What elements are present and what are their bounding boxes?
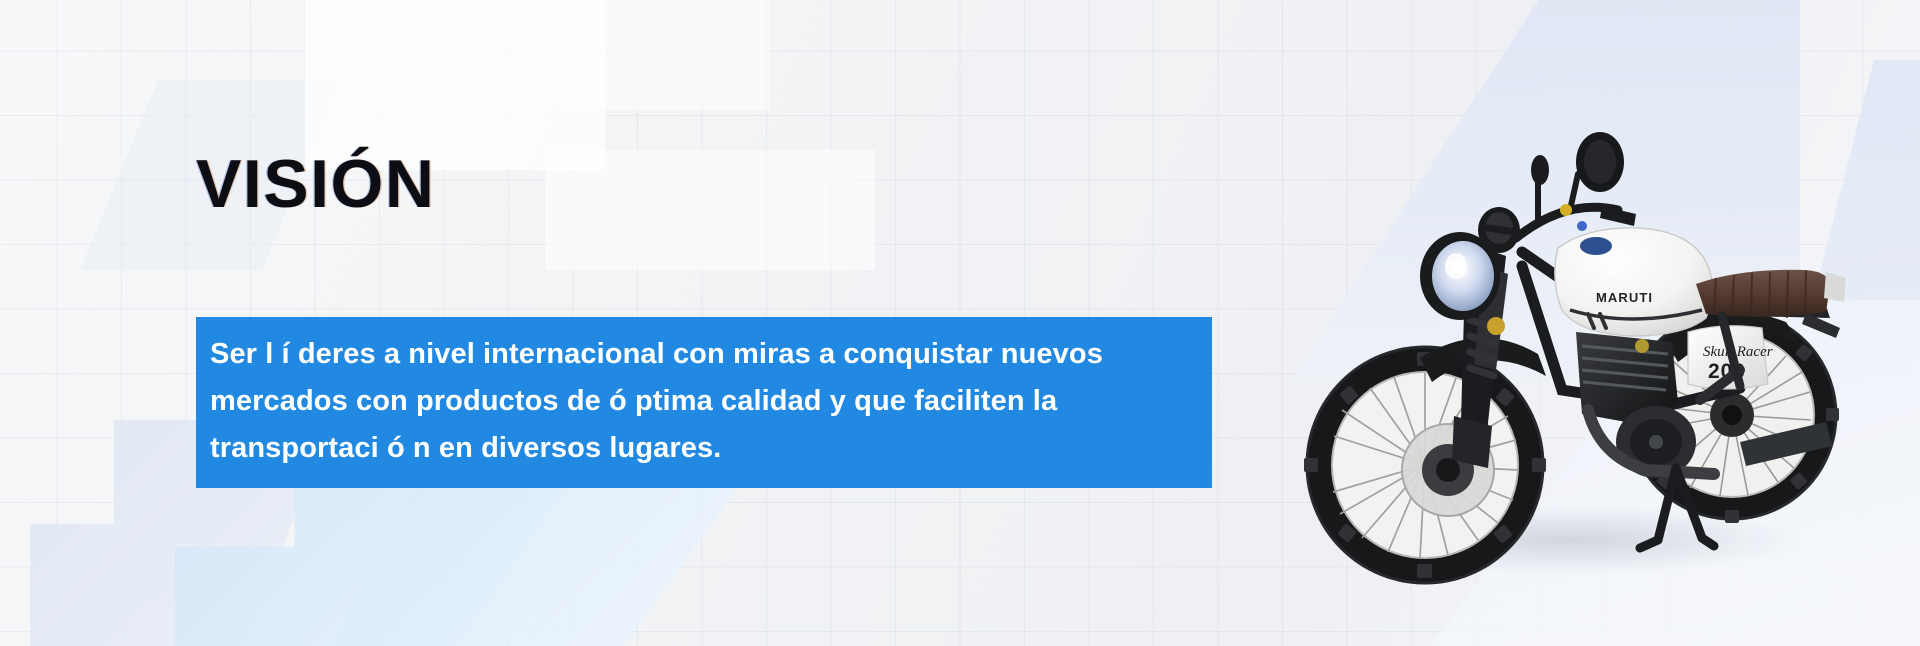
vision-banner: VISIÓN Ser l í deres a nivel internacion… bbox=[0, 0, 1920, 646]
tank-brand-text: MARUTI bbox=[1596, 290, 1653, 305]
front-wheel bbox=[1304, 347, 1546, 583]
seat bbox=[1696, 270, 1846, 318]
side-panel-script-text: Skull Racer bbox=[1703, 344, 1773, 360]
vision-statement-line-3: transportaci ó n en diversos lugares. bbox=[196, 425, 1212, 472]
fuel-tank: MARUTI bbox=[1555, 228, 1713, 336]
page-title: VISIÓN bbox=[196, 150, 436, 218]
vision-statement-line-2: mercados con productos de ó ptima calida… bbox=[196, 378, 1212, 425]
motorcycle-product-image: MARUTI bbox=[1270, 70, 1910, 590]
vision-statement-box: Ser l í deres a nivel internacional con … bbox=[196, 317, 1212, 488]
vision-statement-line-1: Ser l í deres a nivel internacional con … bbox=[196, 331, 1212, 378]
banner-content: VISIÓN Ser l í deres a nivel internacion… bbox=[0, 0, 1260, 646]
